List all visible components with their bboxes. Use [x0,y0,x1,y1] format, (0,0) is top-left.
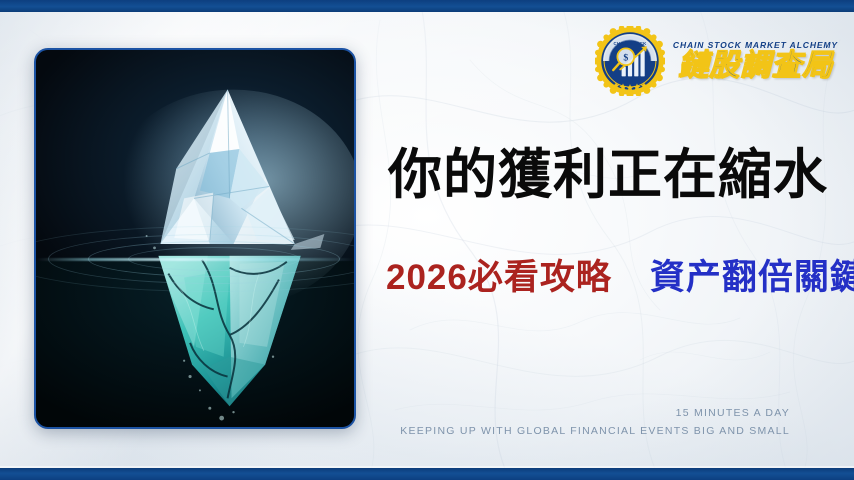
banner-stage: CHAIN STOCK $ [0,0,854,480]
top-blue-rail [0,0,854,12]
iceberg-crystal-photo [34,48,356,429]
subtitle-blue-text: 資产翻倍關鍵 [650,260,854,295]
tagline-line-1: 15 MINUTES A DAY [400,405,790,422]
wordmark-english: CHAIN STOCK MARKET ALCHEMY [673,41,838,50]
page-title: 你的獲利正在縮水 [388,148,828,202]
brand-logo[interactable]: CHAIN STOCK $ [595,26,838,96]
subtitle-red-text: 2026必看攻略 [386,260,612,295]
brand-wordmark: CHAIN STOCK MARKET ALCHEMY 鏈股調查局 [673,41,838,82]
tagline-line-2: KEEPING UP WITH GLOBAL FINANCIAL EVENTS … [400,423,790,440]
subtitle-row: 2026必看攻略 資产翻倍關鍵 [386,260,854,295]
wordmark-chinese: 鏈股調查局 [673,51,838,81]
bottom-blue-rail [0,468,854,480]
tagline: 15 MINUTES A DAY KEEPING UP WITH GLOBAL … [400,405,790,440]
svg-text:$: $ [623,52,628,63]
seal-badge-magnifier-barchart-icon: CHAIN STOCK $ [595,26,665,96]
water-ripple [128,247,300,271]
svg-text:CHAIN STOCK: CHAIN STOCK [613,41,647,46]
